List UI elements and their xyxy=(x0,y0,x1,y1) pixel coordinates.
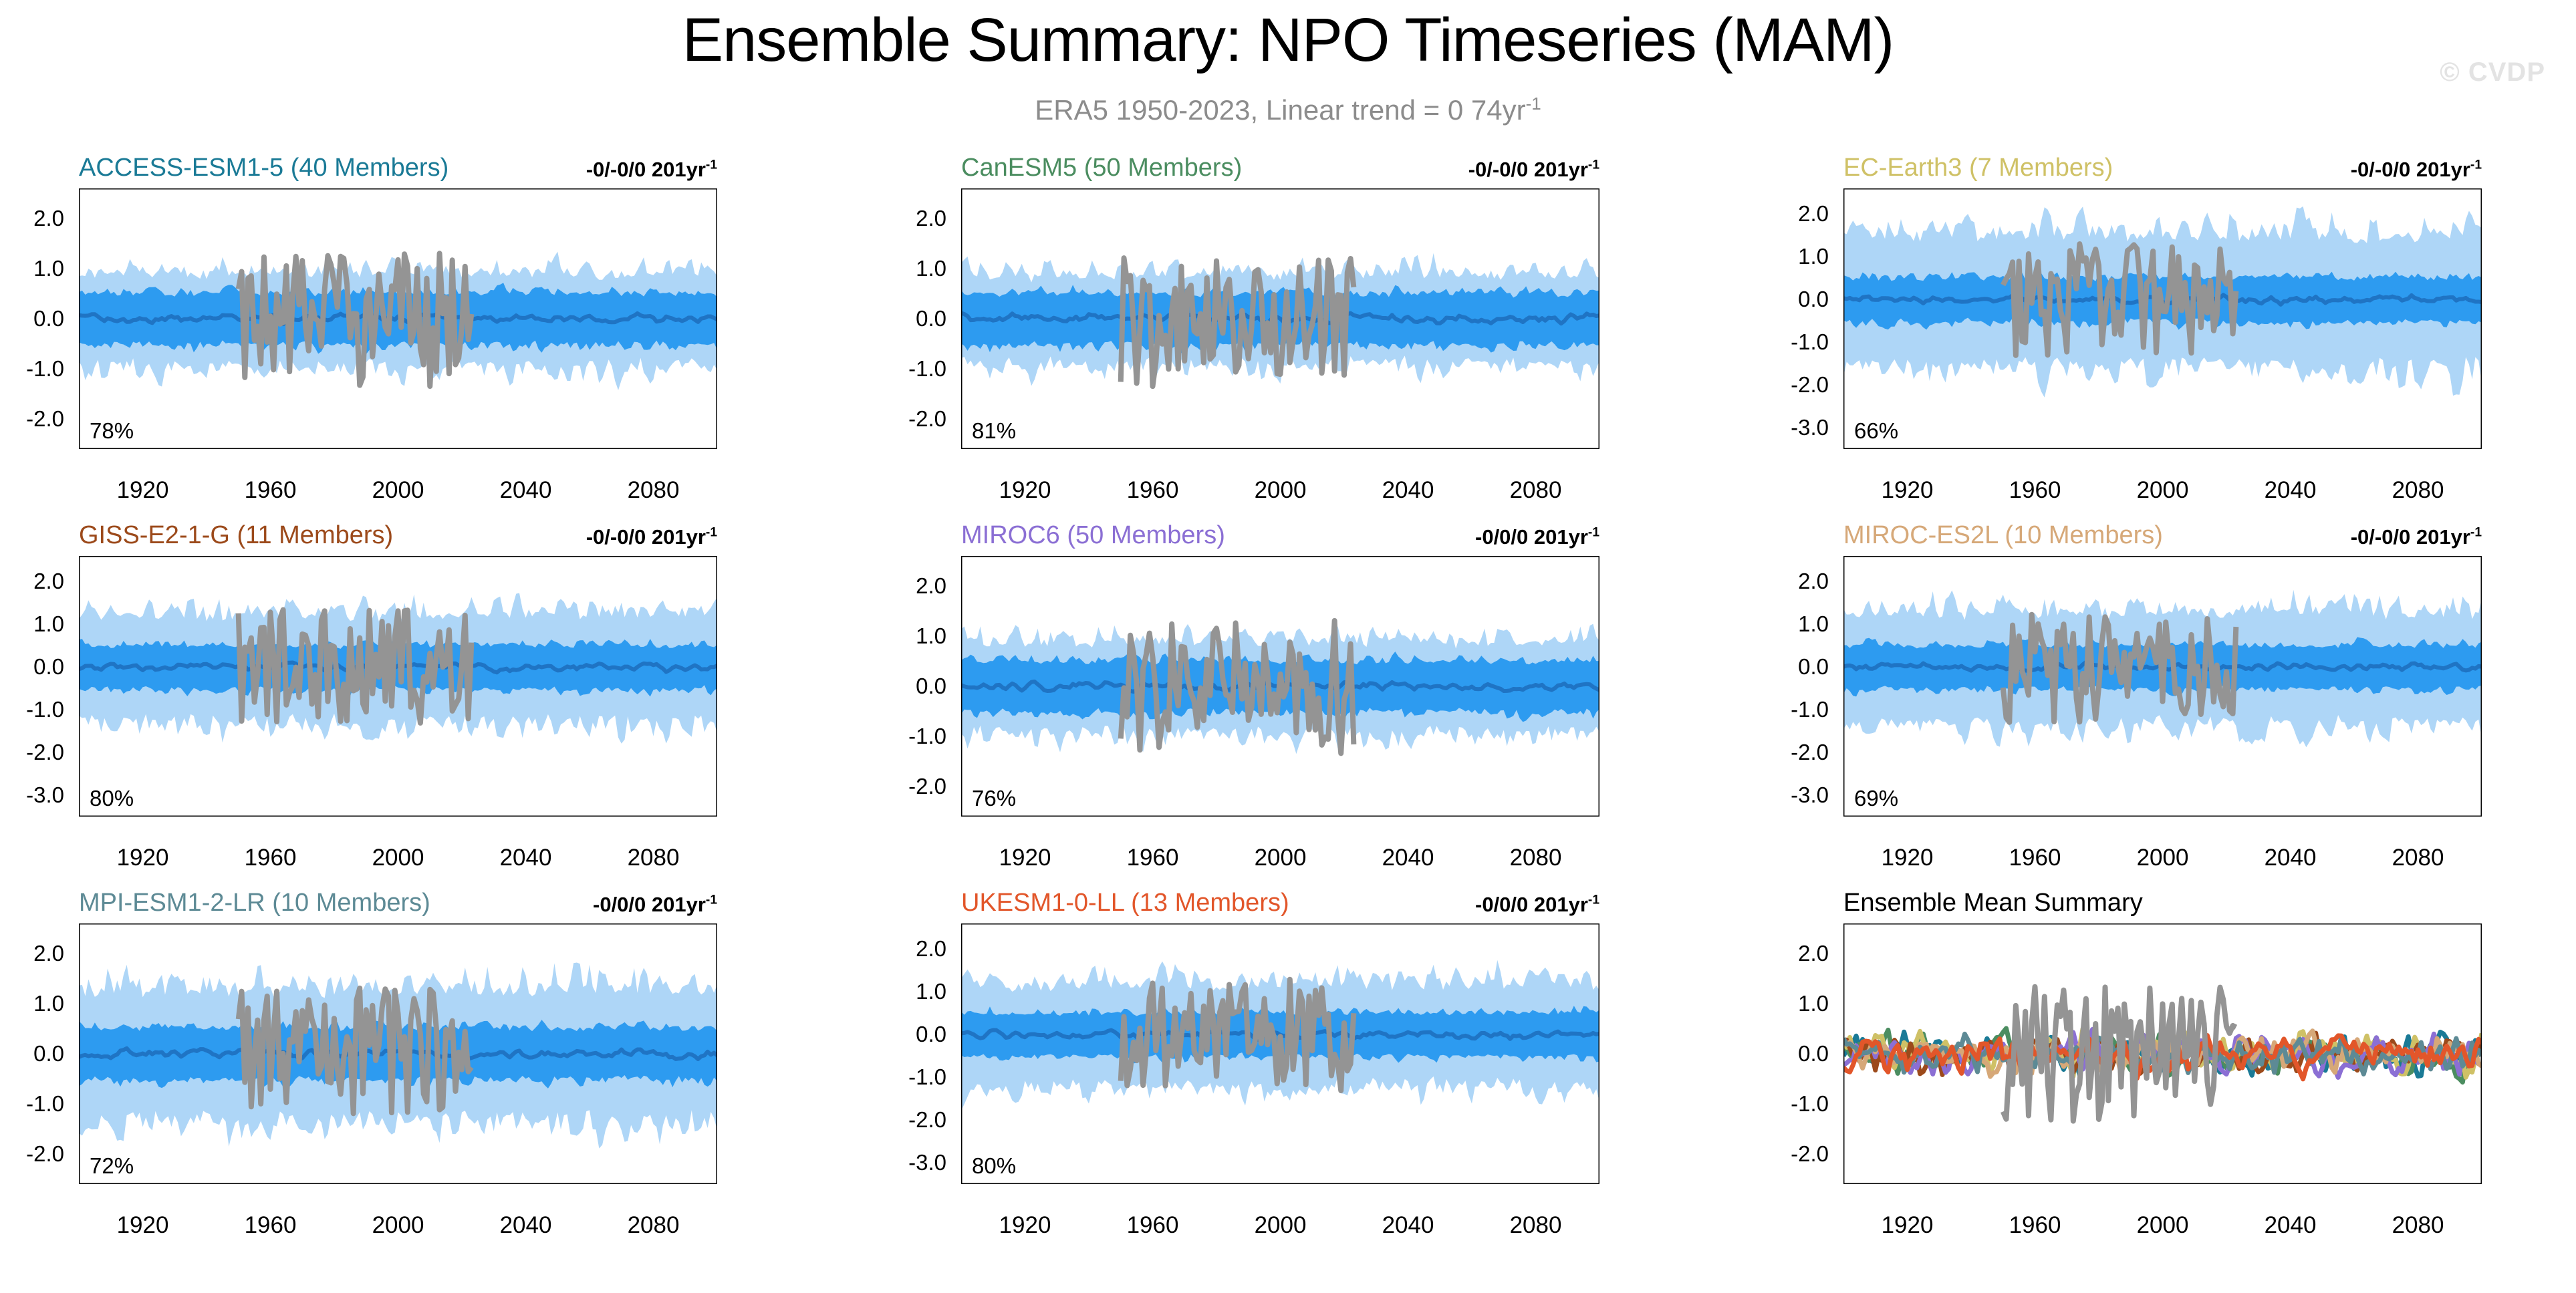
x-tick-label: 2040 xyxy=(2265,845,2317,871)
panel-trend-superscript: -1 xyxy=(1588,893,1599,907)
y-tick-label: 0.0 xyxy=(12,1041,64,1066)
panel-trend-superscript: -1 xyxy=(1588,158,1599,172)
x-tick-label: 1960 xyxy=(2009,1212,2061,1239)
x-tick-label: 2040 xyxy=(2265,477,2317,504)
y-tick-label: 0.0 xyxy=(894,674,946,699)
x-tick-label: 1920 xyxy=(1882,1212,1934,1239)
plot-area-miroc-es2l xyxy=(1843,556,2482,817)
timeseries-plot-canesm5 xyxy=(961,188,1599,449)
x-tick-label: 1920 xyxy=(999,1212,1051,1239)
x-tick-label: 1960 xyxy=(1127,477,1179,504)
x-tick-label: 1920 xyxy=(117,477,169,504)
y-tick-label: 2.0 xyxy=(1777,201,1829,227)
y-tick-label: -1.0 xyxy=(894,1064,946,1090)
y-tick-label: -3.0 xyxy=(1777,782,1829,808)
panel-trend-ukesm1-0-ll: -0/0/0 201yr-1 xyxy=(961,893,1599,917)
timeseries-plot-ec-earth3 xyxy=(1843,188,2482,449)
x-tick-label: 1920 xyxy=(999,477,1051,504)
y-tick-label: 2.0 xyxy=(894,936,946,962)
x-tick-label: 1960 xyxy=(1127,845,1179,871)
x-tick-label: 2080 xyxy=(1510,1212,1562,1239)
panel-trend-superscript: -1 xyxy=(1588,526,1599,540)
x-tick-label: 2000 xyxy=(1255,1212,1307,1239)
y-tick-label: -1.0 xyxy=(894,356,946,382)
chart-header: Ensemble Summary: NPO Timeseries (MAM) E… xyxy=(0,0,2576,154)
panel-trend-text: -0/-0/0 201yr xyxy=(586,525,706,549)
y-tick-label: -1.0 xyxy=(12,356,64,382)
timeseries-plot-ensemble-mean-summary xyxy=(1843,923,2482,1184)
x-tick-label: 2080 xyxy=(2392,845,2444,871)
y-tick-label: -2.0 xyxy=(12,1141,64,1167)
cvdp-watermark: © CVDP xyxy=(2440,57,2545,88)
y-tick-label: 1.0 xyxy=(12,611,64,637)
panel-mpi-esm1-2-lr: MPI-ESM1-2-LR (10 Members)-0/0/0 201yr-1… xyxy=(12,889,737,1250)
x-tick-label: 2040 xyxy=(500,477,552,504)
x-tick-label: 2040 xyxy=(500,1212,552,1239)
panel-trend-text: -0/0/0 201yr xyxy=(593,893,706,916)
y-tick-label: -2.0 xyxy=(1777,1141,1829,1167)
plot-area-ensemble-mean-summary xyxy=(1843,923,2482,1184)
x-tick-label: 2080 xyxy=(628,845,680,871)
subtitle-superscript: -1 xyxy=(1526,94,1541,114)
subtitle-text: ERA5 1950-2023, Linear trend = 0 74yr xyxy=(1035,94,1525,126)
y-tick-label: 2.0 xyxy=(12,569,64,594)
x-tick-label: 1920 xyxy=(117,845,169,871)
x-tick-label: 1920 xyxy=(1882,477,1934,504)
y-tick-label: 2.0 xyxy=(1777,941,1829,966)
y-tick-label: -1.0 xyxy=(1777,1091,1829,1117)
panel-title-ensemble-mean-summary: Ensemble Mean Summary xyxy=(1843,889,2143,917)
y-tick-label: -2.0 xyxy=(894,406,946,432)
y-tick-label: 0.0 xyxy=(894,306,946,331)
panel-trend-superscript: -1 xyxy=(706,526,717,540)
x-tick-label: 2000 xyxy=(1255,845,1307,871)
timeseries-plot-ukesm1-0-ll xyxy=(961,923,1599,1184)
y-tick-label: -2.0 xyxy=(12,740,64,765)
x-tick-label: 2080 xyxy=(1510,845,1562,871)
chart-subtitle: ERA5 1950-2023, Linear trend = 0 74yr-1 xyxy=(0,94,2576,126)
y-tick-label: 1.0 xyxy=(894,979,946,1004)
x-tick-label: 2080 xyxy=(628,477,680,504)
x-tick-label: 1960 xyxy=(245,477,297,504)
x-tick-label: 2040 xyxy=(500,845,552,871)
y-tick-label: -2.0 xyxy=(894,1107,946,1133)
y-tick-label: -2.0 xyxy=(1777,372,1829,398)
agreement-percentage-miroc6: 76% xyxy=(972,786,1016,811)
panel-trend-text: -0/-0/0 201yr xyxy=(2351,525,2470,549)
y-tick-label: 2.0 xyxy=(894,206,946,231)
plot-area-giss-e2-1-g xyxy=(79,556,717,817)
panel-trend-superscript: -1 xyxy=(706,893,717,907)
panel-trend-miroc-es2l: -0/-0/0 201yr-1 xyxy=(1843,525,2482,549)
panel-ensemble-mean-summary: Ensemble Mean Summary2.01.00.0-1.0-2.019… xyxy=(1777,889,2502,1250)
y-tick-label: 2.0 xyxy=(894,573,946,599)
y-tick-label: 0.0 xyxy=(12,654,64,680)
x-tick-label: 2080 xyxy=(628,1212,680,1239)
panel-giss-e2-1-g: GISS-E2-1-G (11 Members)-0/-0/0 201yr-12… xyxy=(12,521,737,882)
x-tick-label: 1960 xyxy=(2009,477,2061,504)
plot-area-access-esm1-5 xyxy=(79,188,717,449)
timeseries-plot-miroc6 xyxy=(961,556,1599,817)
plot-area-ec-earth3 xyxy=(1843,188,2482,449)
x-tick-label: 1960 xyxy=(245,845,297,871)
y-tick-label: 1.0 xyxy=(894,623,946,649)
panel-trend-text: -0/-0/0 201yr xyxy=(1468,158,1588,181)
y-tick-label: -3.0 xyxy=(894,1150,946,1175)
panel-trend-superscript: -1 xyxy=(706,158,717,172)
y-tick-label: 0.0 xyxy=(12,306,64,331)
panel-trend-text: -0/0/0 201yr xyxy=(1475,525,1588,549)
timeseries-plot-miroc-es2l xyxy=(1843,556,2482,817)
x-tick-label: 2000 xyxy=(2137,1212,2189,1239)
agreement-percentage-mpi-esm1-2-lr: 72% xyxy=(90,1153,134,1179)
y-tick-label: 1.0 xyxy=(12,256,64,281)
y-tick-label: 2.0 xyxy=(1777,569,1829,594)
panel-grid: ACCESS-ESM1-5 (40 Members)-0/-0/0 201yr-… xyxy=(0,154,2576,1293)
x-tick-label: 1920 xyxy=(1882,845,1934,871)
plot-area-ukesm1-0-ll xyxy=(961,923,1599,1184)
y-tick-label: 2.0 xyxy=(12,941,64,966)
x-tick-label: 2000 xyxy=(2137,477,2189,504)
agreement-percentage-canesm5: 81% xyxy=(972,418,1016,444)
x-tick-label: 2080 xyxy=(2392,477,2444,504)
agreement-percentage-access-esm1-5: 78% xyxy=(90,418,134,444)
agreement-percentage-ec-earth3: 66% xyxy=(1854,418,1898,444)
panel-trend-miroc6: -0/0/0 201yr-1 xyxy=(961,525,1599,549)
y-tick-label: 0.0 xyxy=(894,1022,946,1047)
panel-trend-text: -0/0/0 201yr xyxy=(1475,893,1588,916)
y-tick-label: -1.0 xyxy=(1777,329,1829,355)
plot-area-miroc6 xyxy=(961,556,1599,817)
panel-trend-giss-e2-1-g: -0/-0/0 201yr-1 xyxy=(79,525,717,549)
agreement-percentage-ukesm1-0-ll: 80% xyxy=(972,1153,1016,1179)
panel-access-esm1-5: ACCESS-ESM1-5 (40 Members)-0/-0/0 201yr-… xyxy=(12,154,737,515)
y-tick-label: 1.0 xyxy=(12,991,64,1016)
panel-ec-earth3: EC-Earth3 (7 Members)-0/-0/0 201yr-12.01… xyxy=(1777,154,2502,515)
y-tick-label: 1.0 xyxy=(894,256,946,281)
panel-miroc6: MIROC6 (50 Members)-0/0/0 201yr-12.01.00… xyxy=(894,521,1620,882)
y-tick-label: -2.0 xyxy=(894,774,946,799)
panel-trend-superscript: -1 xyxy=(2470,158,2482,172)
panel-canesm5: CanESM5 (50 Members)-0/-0/0 201yr-12.01.… xyxy=(894,154,1620,515)
plot-area-canesm5 xyxy=(961,188,1599,449)
panel-miroc-es2l: MIROC-ES2L (10 Members)-0/-0/0 201yr-12.… xyxy=(1777,521,2502,882)
y-tick-label: -1.0 xyxy=(894,724,946,749)
x-tick-label: 2000 xyxy=(372,1212,424,1239)
panel-trend-canesm5: -0/-0/0 201yr-1 xyxy=(961,158,1599,182)
x-tick-label: 1960 xyxy=(1127,1212,1179,1239)
y-tick-label: -1.0 xyxy=(1777,697,1829,722)
x-tick-label: 2040 xyxy=(1382,1212,1434,1239)
panel-trend-access-esm1-5: -0/-0/0 201yr-1 xyxy=(79,158,717,182)
x-tick-label: 1960 xyxy=(2009,845,2061,871)
y-tick-label: -2.0 xyxy=(1777,740,1829,765)
x-tick-label: 2000 xyxy=(372,477,424,504)
page-title: Ensemble Summary: NPO Timeseries (MAM) xyxy=(0,5,2576,76)
panel-trend-superscript: -1 xyxy=(2470,526,2482,540)
y-tick-label: -3.0 xyxy=(1777,415,1829,440)
x-tick-label: 1920 xyxy=(117,1212,169,1239)
x-tick-label: 2040 xyxy=(2265,1212,2317,1239)
x-tick-label: 2040 xyxy=(1382,845,1434,871)
timeseries-plot-giss-e2-1-g xyxy=(79,556,717,817)
y-tick-label: 0.0 xyxy=(1777,1041,1829,1066)
agreement-percentage-giss-e2-1-g: 80% xyxy=(90,786,134,811)
agreement-percentage-miroc-es2l: 69% xyxy=(1854,786,1898,811)
x-tick-label: 2000 xyxy=(2137,845,2189,871)
y-tick-label: -1.0 xyxy=(12,1091,64,1117)
plot-area-mpi-esm1-2-lr xyxy=(79,923,717,1184)
x-tick-label: 2000 xyxy=(1255,477,1307,504)
panel-trend-text: -0/-0/0 201yr xyxy=(2351,158,2470,181)
y-tick-label: 1.0 xyxy=(1777,991,1829,1016)
panel-trend-text: -0/-0/0 201yr xyxy=(586,158,706,181)
x-tick-label: 1960 xyxy=(245,1212,297,1239)
y-tick-label: -1.0 xyxy=(12,697,64,722)
y-tick-label: 2.0 xyxy=(12,206,64,231)
y-tick-label: 0.0 xyxy=(1777,287,1829,312)
x-tick-label: 2080 xyxy=(1510,477,1562,504)
panel-trend-ec-earth3: -0/-0/0 201yr-1 xyxy=(1843,158,2482,182)
timeseries-plot-mpi-esm1-2-lr xyxy=(79,923,717,1184)
y-tick-label: 1.0 xyxy=(1777,244,1829,269)
panel-trend-mpi-esm1-2-lr: -0/0/0 201yr-1 xyxy=(79,893,717,917)
panel-ukesm1-0-ll: UKESM1-0-LL (13 Members)-0/0/0 201yr-12.… xyxy=(894,889,1620,1250)
x-tick-label: 2080 xyxy=(2392,1212,2444,1239)
x-tick-label: 2000 xyxy=(372,845,424,871)
timeseries-plot-access-esm1-5 xyxy=(79,188,717,449)
y-tick-label: 0.0 xyxy=(1777,654,1829,680)
x-tick-label: 1920 xyxy=(999,845,1051,871)
y-tick-label: -2.0 xyxy=(12,406,64,432)
x-tick-label: 2040 xyxy=(1382,477,1434,504)
y-tick-label: 1.0 xyxy=(1777,611,1829,637)
y-tick-label: -3.0 xyxy=(12,782,64,808)
